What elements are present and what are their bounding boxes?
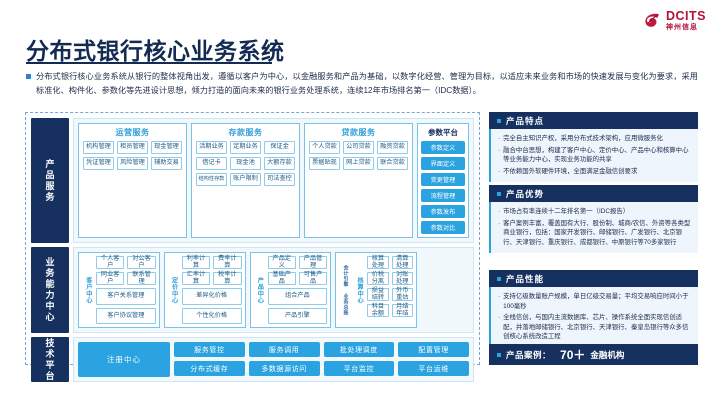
band-label-tech-platform: 技术平台 bbox=[31, 337, 69, 382]
chip[interactable]: 账户限制 bbox=[230, 173, 261, 186]
chip[interactable]: 汇率计算 bbox=[182, 272, 210, 285]
param-chip[interactable]: 流程管理 bbox=[421, 189, 465, 202]
panel-title: 产品特点 bbox=[506, 115, 544, 127]
service-group-deposit[interactable]: 存款服务 活期业务 定期业务 保证金 借记卡 现金池 大额存款 结构性存款 账户… bbox=[191, 123, 300, 238]
square-bullet-icon bbox=[497, 353, 501, 357]
panel-line-text: 不依赖国外软硬件环境，全面满足金融信创要求 bbox=[503, 167, 637, 177]
chip[interactable]: 借记卡 bbox=[196, 157, 227, 170]
panel-line: ·全栈信创，与国内主流数据库、芯片、操作系统全面实现信创适配，并落地邮储银行、北… bbox=[498, 313, 691, 342]
chip[interactable]: 同业客户 bbox=[96, 272, 124, 285]
chip[interactable]: 利率计算 bbox=[182, 256, 210, 269]
tech-chip[interactable]: 平台监控 bbox=[324, 361, 395, 376]
center-accounting[interactable]: 会计引擎 业务总账 核算中心 核算处理 清算处理 价税分离 对账处理 损益结转 … bbox=[335, 252, 417, 328]
page-title: 分布式银行核心业务系统 bbox=[26, 32, 285, 66]
param-chip[interactable]: 参数发布 bbox=[421, 205, 465, 218]
panel-product-features: 产品特点 ·完全自主知识产权，采用分布式技术架构，应用微服务化 ·融合中台思想，… bbox=[489, 112, 698, 182]
chip[interactable]: 联系管理 bbox=[127, 272, 155, 285]
panel-header: 产品特点 bbox=[489, 112, 698, 129]
chip[interactable]: 现金池 bbox=[230, 157, 261, 170]
dot-icon: · bbox=[498, 134, 500, 144]
product-case-bar: 产品案例： 70＋ 金融机构 bbox=[489, 344, 698, 365]
panel-body: ·支持亿级数量账户规模，单日亿级交易量；平均交易响应时间小于100毫秒 ·全栈信… bbox=[489, 287, 698, 348]
tech-chip[interactable]: 批处理调度 bbox=[324, 342, 395, 357]
chip[interactable]: 月结年结 bbox=[392, 304, 413, 317]
chip[interactable]: 损益结转 bbox=[367, 288, 388, 301]
panel-product-performance: 产品性能 ·支持亿级数量账户规模，单日亿级交易量；平均交易响应时间小于100毫秒… bbox=[489, 270, 698, 348]
panel-header: 产品优势 bbox=[489, 185, 698, 202]
top-bar bbox=[0, 0, 720, 12]
square-bullet-icon bbox=[497, 192, 501, 196]
chip[interactable]: 融资贷款 bbox=[377, 141, 408, 154]
chip[interactable]: 费率计算 bbox=[213, 256, 241, 269]
dot-icon: · bbox=[498, 313, 500, 342]
service-group-loan[interactable]: 贷款服务 个人贷款 公司贷款 融资贷款 票据贴现 网上贷款 联合贷款 bbox=[304, 123, 413, 238]
band-tech-platform: 技术平台 注册中心 服务管控 分布式缓存 服务调用 多数据源访问 批处理调度 平… bbox=[31, 337, 474, 382]
chip[interactable]: 大额存款 bbox=[264, 157, 295, 170]
panel-line-text: 完全自主知识产权，采用分布式技术架构，应用微服务化 bbox=[503, 134, 663, 144]
chip[interactable]: 科目余额 bbox=[367, 304, 388, 317]
panel-line: ·市场占有率连续十二年排名第一（IDC报告） bbox=[498, 207, 691, 217]
chip[interactable]: 基础产品 bbox=[268, 272, 296, 285]
tech-chip[interactable]: 配置管理 bbox=[398, 342, 469, 357]
chip[interactable]: 价税分离 bbox=[367, 272, 388, 285]
band-product-service: 产品服务 运营服务 机构管理 柜员管理 现金管理 凭证管理 风险管理 辅助交易 … bbox=[31, 118, 474, 243]
service-group-title: 贷款服务 bbox=[309, 127, 408, 138]
intro-paragraph: 分布式银行核心业务系统从银行的整体视角出发，遵循以客户为中心，以金融服务和产品为… bbox=[26, 70, 698, 97]
center-pricing[interactable]: 定价中心 利率计算 费率计算 汇率计算 税率计算 差异化价格 个性化价格 bbox=[164, 252, 246, 328]
band-label-business-capability: 业务能力中心 bbox=[31, 247, 69, 333]
square-bullet-icon bbox=[497, 277, 501, 281]
product-case-label: 产品案例： bbox=[506, 349, 551, 361]
panel-line: ·完全自主知识产权，采用分布式技术架构，应用微服务化 bbox=[498, 134, 691, 144]
panel-product-advantages: 产品优势 ·市场占有率连续十二年排名第一（IDC报告） ·客户案例丰富，覆盖国有… bbox=[489, 185, 698, 253]
chip[interactable]: 现金管理 bbox=[151, 141, 182, 154]
chip[interactable]: 机构管理 bbox=[83, 141, 114, 154]
business-capability-body: 客户中心 个人客户 对公客户 同业客户 联系管理 客户关系管理 客户协议管理 定… bbox=[73, 247, 474, 333]
param-chip[interactable]: 界面定义 bbox=[421, 157, 465, 170]
chip[interactable]: 辅助交易 bbox=[151, 157, 182, 170]
service-group-title: 运营服务 bbox=[83, 127, 182, 138]
chip[interactable]: 柜员管理 bbox=[117, 141, 148, 154]
logo-cn-name: 神州信息 bbox=[666, 24, 706, 31]
chip[interactable]: 定期业务 bbox=[230, 141, 261, 154]
chip[interactable]: 核算处理 bbox=[367, 256, 388, 269]
panel-line-text: 市场占有率连续十二年排名第一（IDC报告） bbox=[503, 207, 629, 217]
center-product[interactable]: 产品中心 产品定义 产品管理 基础产品 可售产品 组合产品 产品引擎 bbox=[250, 252, 332, 328]
chip[interactable]: 保证金 bbox=[264, 141, 295, 154]
tech-chip[interactable]: 平台运维 bbox=[398, 361, 469, 376]
dot-icon: · bbox=[498, 167, 500, 177]
chip[interactable]: 联合贷款 bbox=[377, 157, 408, 170]
param-chip[interactable]: 变更管理 bbox=[421, 173, 465, 186]
dcits-swirl-icon bbox=[643, 11, 662, 30]
product-case-suffix: 金融机构 bbox=[590, 349, 624, 361]
panel-line-text: 支持亿级数量账户规模，单日亿级交易量；平均交易响应时间小于100毫秒 bbox=[503, 292, 691, 311]
parameter-platform[interactable]: 参数平台 参数定义 界面定义 变更管理 流程管理 参数发布 参数对比 bbox=[417, 123, 469, 238]
panel-header: 产品性能 bbox=[489, 270, 698, 287]
chip[interactable]: 客户协议管理 bbox=[96, 308, 156, 325]
center-label: 核算中心 bbox=[353, 256, 364, 324]
panel-title: 产品性能 bbox=[506, 273, 544, 285]
chip[interactable]: 个性化价格 bbox=[182, 308, 242, 325]
parameter-platform-title: 参数平台 bbox=[421, 127, 465, 138]
band-label-product-service: 产品服务 bbox=[31, 118, 69, 243]
chip[interactable]: 票据贴现 bbox=[309, 157, 340, 170]
chip[interactable]: 个人贷款 bbox=[309, 141, 340, 154]
intro-text: 分布式银行核心业务系统从银行的整体视角出发，遵循以客户为中心，以金融服务和产品为… bbox=[36, 70, 698, 97]
product-case-number: 70＋ bbox=[560, 346, 585, 363]
center-label: 客户中心 bbox=[82, 256, 93, 324]
panel-body: ·完全自主知识产权，采用分布式技术架构，应用微服务化 ·融合中台思想，构建了客户… bbox=[489, 129, 698, 182]
bullet-icon bbox=[26, 74, 31, 79]
service-group-operations[interactable]: 运营服务 机构管理 柜员管理 现金管理 凭证管理 风险管理 辅助交易 bbox=[78, 123, 187, 238]
brand-logo: DCITS 神州信息 bbox=[643, 10, 706, 31]
chip[interactable]: 可售产品 bbox=[299, 272, 327, 285]
tech-chip[interactable]: 多数据源访问 bbox=[249, 361, 320, 376]
chip[interactable]: 税率计算 bbox=[213, 272, 241, 285]
logo-name: DCITS bbox=[666, 10, 706, 23]
tech-chip[interactable]: 服务管控 bbox=[174, 342, 245, 357]
chip[interactable]: 司法查控 bbox=[264, 173, 295, 186]
title-underline bbox=[26, 62, 272, 64]
center-label: 定价中心 bbox=[168, 256, 179, 324]
tech-chip[interactable]: 分布式缓存 bbox=[174, 361, 245, 376]
center-customer[interactable]: 客户中心 个人客户 对公客户 同业客户 联系管理 客户关系管理 客户协议管理 bbox=[78, 252, 160, 328]
tech-register-center[interactable]: 注册中心 bbox=[78, 342, 170, 377]
chip[interactable]: 对公客户 bbox=[127, 256, 155, 269]
chip[interactable]: 结构性存款 bbox=[196, 173, 227, 186]
panel-line-text: 客户案例丰富，覆盖国有大行、股份制、城商/农信、外资等各类型商业银行，包括：国家… bbox=[503, 219, 691, 248]
chip[interactable]: 外币重估 bbox=[392, 288, 413, 301]
chip[interactable]: 清算处理 bbox=[392, 256, 413, 269]
tech-platform-body: 注册中心 服务管控 分布式缓存 服务调用 多数据源访问 批处理调度 平台监控 配… bbox=[73, 337, 474, 382]
chip[interactable]: 凭证管理 bbox=[83, 157, 114, 170]
panel-line: ·融合中台思想，构建了客户中心、定价中心、产品中心和核算中心等业务能力中心，实现… bbox=[498, 146, 691, 165]
chip[interactable]: 风险管理 bbox=[117, 157, 148, 170]
chip[interactable]: 个人客户 bbox=[96, 256, 124, 269]
chip[interactable]: 产品引擎 bbox=[268, 308, 328, 325]
architecture-diagram: 产品服务 运营服务 机构管理 柜员管理 现金管理 凭证管理 风险管理 辅助交易 … bbox=[25, 112, 480, 365]
param-chip[interactable]: 参数定义 bbox=[421, 141, 465, 154]
product-service-body: 运营服务 机构管理 柜员管理 现金管理 凭证管理 风险管理 辅助交易 存款服务 … bbox=[73, 118, 474, 243]
dot-icon: · bbox=[498, 292, 500, 311]
chip[interactable]: 产品定义 bbox=[268, 256, 296, 269]
panel-line: ·支持亿级数量账户规模，单日亿级交易量；平均交易响应时间小于100毫秒 bbox=[498, 292, 691, 311]
dot-icon: · bbox=[498, 219, 500, 248]
band-business-capability: 业务能力中心 客户中心 个人客户 对公客户 同业客户 联系管理 客户关系管理 客… bbox=[31, 247, 474, 333]
panel-title: 产品优势 bbox=[506, 188, 544, 200]
chip[interactable]: 网上贷款 bbox=[343, 157, 374, 170]
chip[interactable]: 对账处理 bbox=[392, 272, 413, 285]
chip[interactable]: 组合产品 bbox=[268, 288, 328, 305]
square-bullet-icon bbox=[497, 119, 501, 123]
chip[interactable]: 产品管理 bbox=[299, 256, 327, 269]
center-sublabel: 会计引擎 业务总账 bbox=[339, 256, 350, 324]
param-chip[interactable]: 参数对比 bbox=[421, 221, 465, 234]
panel-line-text: 全栈信创，与国内主流数据库、芯片、操作系统全面实现信创适配，并落地邮储银行、北京… bbox=[503, 313, 691, 342]
panel-line: ·客户案例丰富，覆盖国有大行、股份制、城商/农信、外资等各类型商业银行，包括：国… bbox=[498, 219, 691, 248]
dot-icon: · bbox=[498, 146, 500, 165]
panel-line-text: 融合中台思想，构建了客户中心、定价中心、产品中心和核算中心等业务能力中心，实现业… bbox=[503, 146, 691, 165]
center-label: 产品中心 bbox=[254, 256, 265, 324]
chip[interactable]: 客户关系管理 bbox=[96, 288, 156, 305]
panel-line: ·不依赖国外软硬件环境，全面满足金融信创要求 bbox=[498, 167, 691, 177]
chip[interactable]: 公司贷款 bbox=[343, 141, 374, 154]
service-group-title: 存款服务 bbox=[196, 127, 295, 138]
chip[interactable]: 差异化价格 bbox=[182, 288, 242, 305]
tech-chip[interactable]: 服务调用 bbox=[249, 342, 320, 357]
panel-body: ·市场占有率连续十二年排名第一（IDC报告） ·客户案例丰富，覆盖国有大行、股份… bbox=[489, 202, 698, 253]
dot-icon: · bbox=[498, 207, 500, 217]
chip[interactable]: 活期业务 bbox=[196, 141, 227, 154]
